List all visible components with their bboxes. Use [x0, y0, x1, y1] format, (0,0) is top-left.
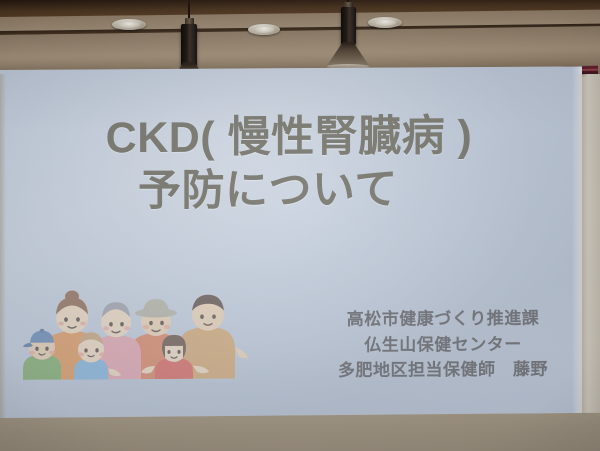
projection-screen: CKD( 慢性腎臓病 ) 予防について 高松市健康づくり推進課 仏生山保健センタ…	[0, 66, 582, 422]
downlight-left	[112, 19, 146, 30]
slide-title-line-2: 予防について	[0, 163, 582, 217]
wall-left-strip	[0, 74, 6, 424]
wall-below-screen	[0, 413, 600, 451]
pendant-lamp-right	[325, 0, 371, 72]
wall-right-strip	[574, 74, 600, 422]
credit-line-3: 多肥地区担当保健師 藤野	[338, 357, 548, 384]
family-illustration	[22, 283, 252, 379]
photo-scene: CKD( 慢性腎臓病 ) 予防について 高松市健康づくり推進課 仏生山保健センタ…	[0, 0, 600, 451]
credit-line-2: 仏生山保健センター	[338, 331, 548, 358]
credit-line-1: 高松市健康づくり推進課	[338, 306, 548, 333]
downlight-right	[368, 17, 402, 28]
slide-title-line-1: CKD( 慢性腎臓病 )	[106, 112, 473, 162]
slide-title: CKD( 慢性腎臓病 ) 予防について	[0, 110, 582, 217]
downlight-center	[248, 24, 280, 35]
slide-credits: 高松市健康づくり推進課 仏生山保健センター 多肥地区担当保健師 藤野	[338, 306, 548, 384]
